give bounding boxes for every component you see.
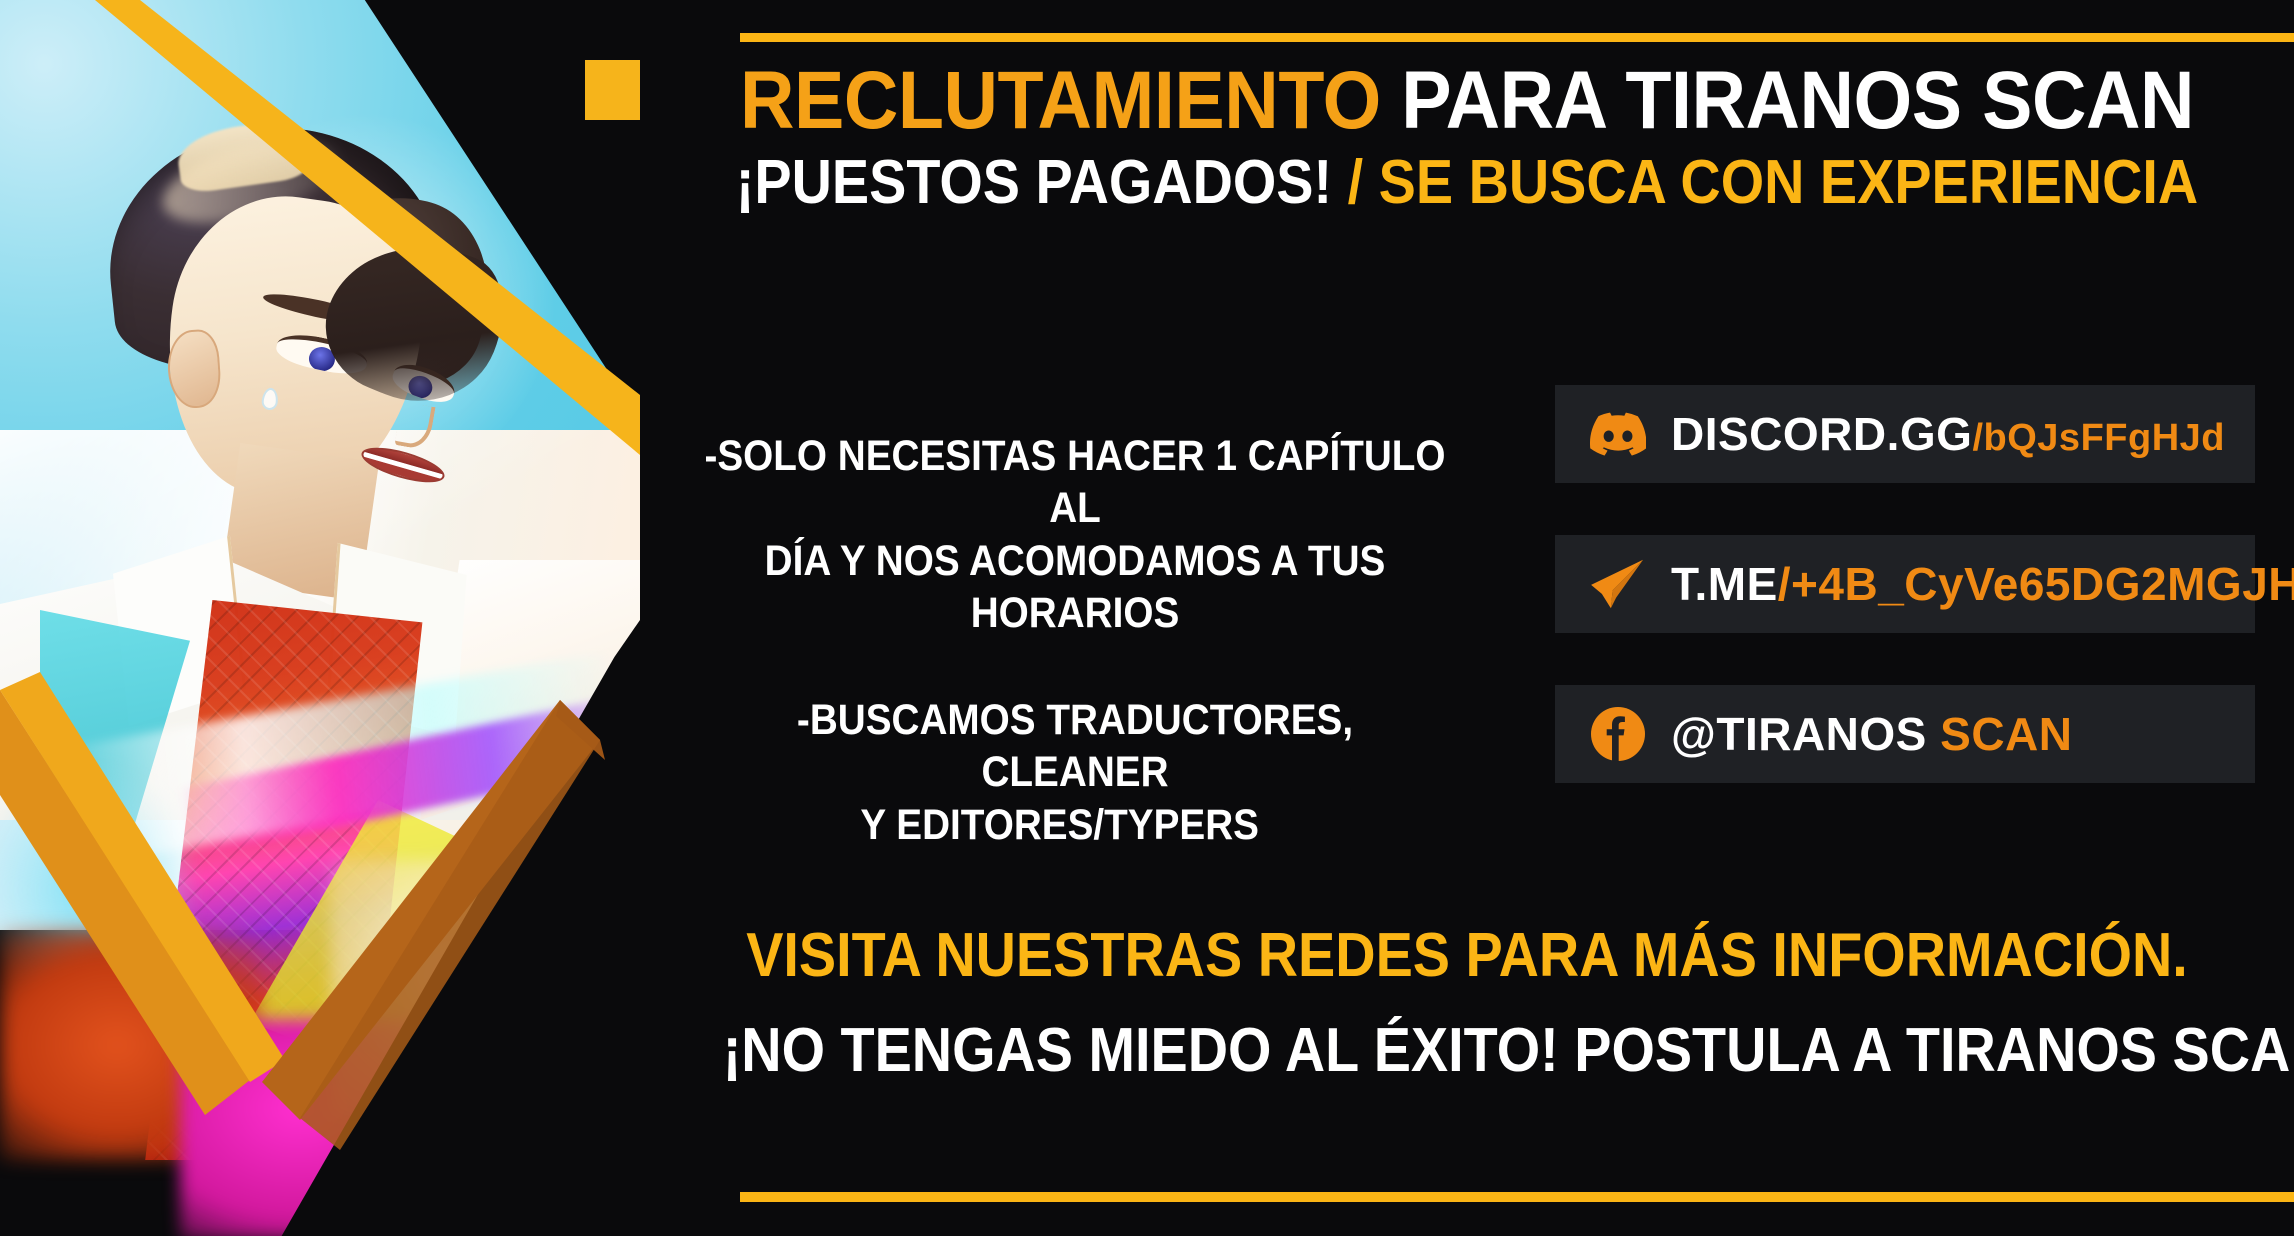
requirements-list: -SOLO NECESITAS HACER 1 CAPÍTULO AL DÍA …: [702, 430, 1449, 851]
subtitle-gold-part: / SE BUSCA CON EXPERIENCIA: [1348, 148, 2199, 217]
telegram-domain: T.ME: [1671, 558, 1778, 610]
page-subtitle: ¡PUESTOS PAGADOS! / SE BUSCA CON EXPERIE…: [723, 152, 2212, 214]
requirement-1-line-2: DÍA Y NOS ACOMODAMOS A TUS HORARIOS: [765, 537, 1386, 637]
contact-card-discord[interactable]: DISCORD.GG/bQJsFFgHJd: [1555, 385, 2255, 483]
footer-line-2: ¡NO TENGAS MIEDO AL ÉXITO! POSTULA A TIR…: [723, 1020, 2212, 1082]
bottom-divider-rule: [740, 1192, 2294, 1202]
requirement-2-line-1: -BUSCAMOS TRADUCTORES, CLEANER: [702, 694, 1449, 799]
contact-card-facebook[interactable]: @TIRANOS SCAN: [1555, 685, 2255, 783]
top-divider-rule: [740, 33, 2294, 42]
page-title: RECLUTAMIENTO PARA TIRANOS SCAN: [706, 60, 2228, 142]
requirement-2-line-2: Y EDITORES/TYPERS: [671, 799, 1449, 851]
discord-icon: [1589, 405, 1647, 463]
requirement-1-line-1: -SOLO NECESITAS HACER 1 CAPÍTULO AL: [704, 432, 1445, 532]
telegram-icon: [1589, 555, 1647, 613]
contact-cards: DISCORD.GG/bQJsFFgHJd T.ME/+4B_CyVe65DG2…: [1555, 385, 2255, 783]
recruitment-banner: RECLUTAMIENTO PARA TIRANOS SCAN ¡PUESTOS…: [0, 0, 2294, 1236]
discord-link-text: DISCORD.GG/bQJsFFgHJd: [1671, 407, 2225, 461]
contact-card-telegram[interactable]: T.ME/+4B_CyVe65DG2MGJH: [1555, 535, 2255, 633]
facebook-handle: @TIRANOS: [1671, 708, 1927, 760]
facebook-icon: [1589, 705, 1647, 763]
telegram-link-text: T.ME/+4B_CyVe65DG2MGJH: [1671, 557, 2294, 611]
facebook-handle-suffix: SCAN: [1940, 708, 2072, 760]
artwork-panel: [0, 0, 640, 1236]
requirement-item-1: -SOLO NECESITAS HACER 1 CAPÍTULO AL DÍA …: [702, 430, 1449, 640]
discord-invite-code: /bQJsFFgHJd: [1972, 417, 2225, 459]
footer-line-1: VISITA NUESTRAS REDES PARA MÁS INFORMACI…: [723, 925, 2212, 987]
facebook-handle-text: @TIRANOS SCAN: [1671, 707, 2072, 761]
telegram-invite-code: /+4B_CyVe65DG2MGJH: [1778, 558, 2294, 610]
title-highlight: RECLUTAMIENTO: [740, 55, 1381, 146]
discord-domain: DISCORD.GG: [1671, 408, 1972, 460]
requirement-item-2: -BUSCAMOS TRADUCTORES, CLEANER Y EDITORE…: [702, 694, 1449, 851]
title-rest: PARA TIRANOS SCAN: [1401, 55, 2194, 146]
subtitle-white-part: ¡PUESTOS PAGADOS!: [736, 148, 1332, 217]
